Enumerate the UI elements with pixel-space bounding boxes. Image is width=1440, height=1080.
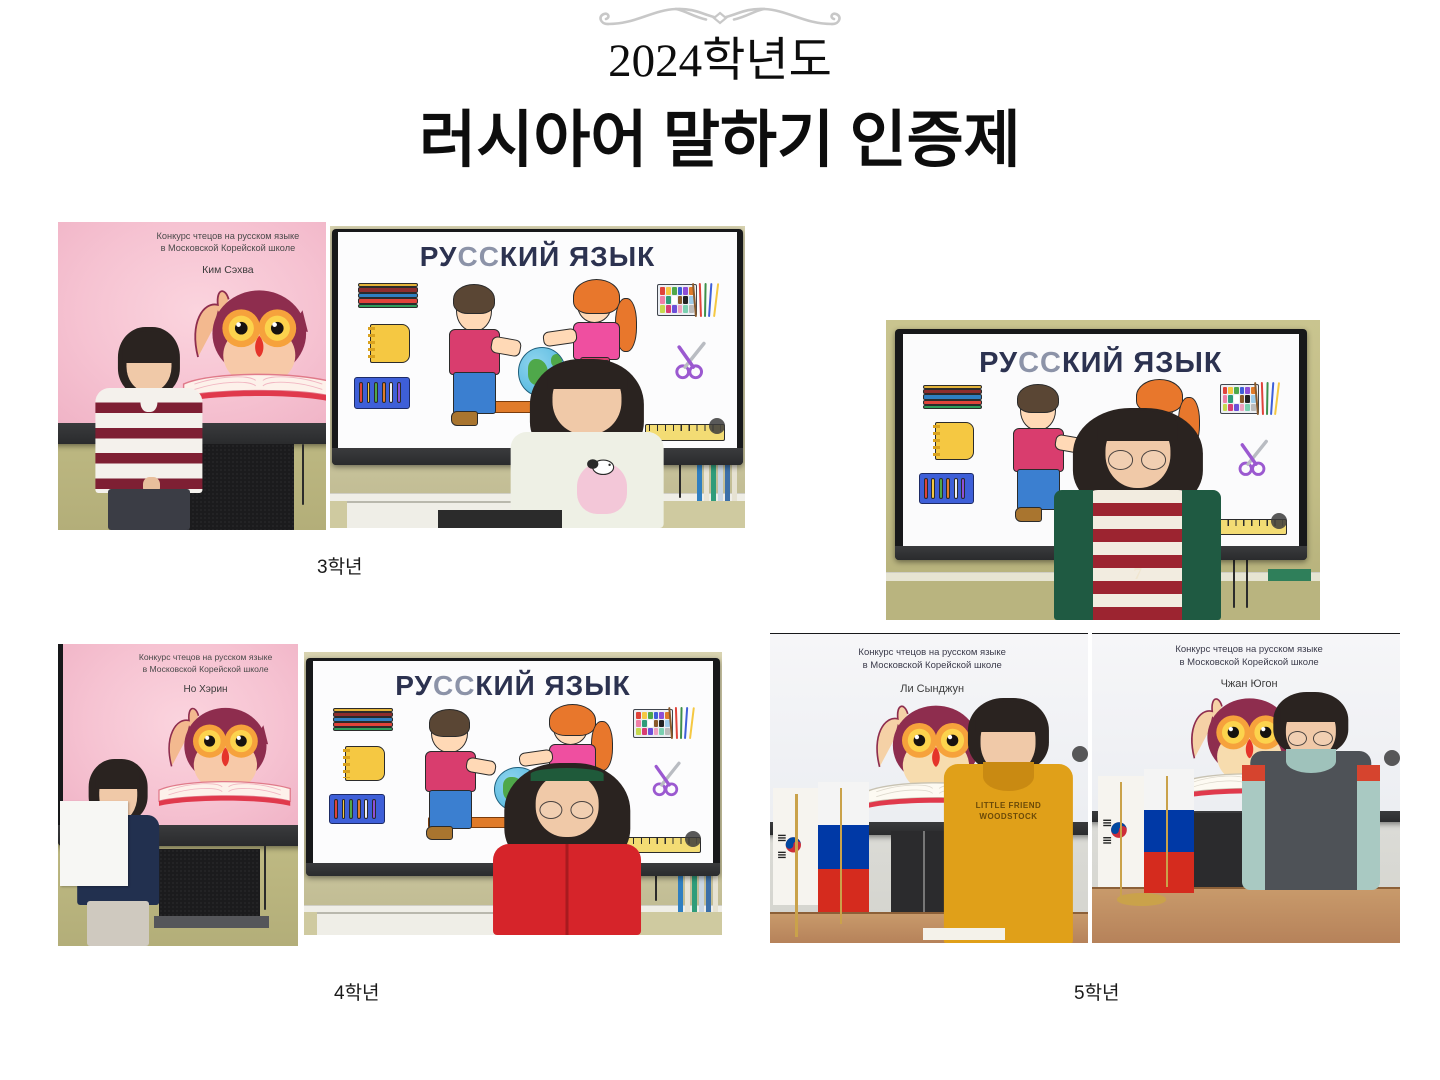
gift-books-icon <box>358 283 418 308</box>
watermark-badge-icon <box>709 418 725 434</box>
presentation-slide: 2024학년도 러시아어 말하기 인증제 Конкурс чтецов на р… <box>0 0 1440 1080</box>
owl-slide-heading-line1: Конкурс чтецов на русском языке <box>139 652 272 662</box>
photo-jang-yugon: Конкурс чтецов на русском языке в Москов… <box>1092 633 1400 943</box>
photo-no-haerin: Конкурс чтецов на русском языке в Москов… <box>58 644 298 946</box>
photo-russian-language-2: РУССКИЙ ЯЗЫК <box>886 320 1320 620</box>
student-name-lee-seungjun: Ли Сынджун <box>770 683 1088 695</box>
owl-slide-heading-line2: в Московской Корейской школе <box>161 243 296 253</box>
eyeglasses-icon <box>1108 452 1168 469</box>
pencil-case-icon <box>919 473 974 504</box>
owl-slide-heading-line1: Конкурс чтецов на русском языке <box>858 647 1006 658</box>
owl-slide-heading-line1: Конкурс чтецов на русском языке <box>1175 644 1323 655</box>
notebook-icon <box>935 422 975 460</box>
student-figure <box>96 327 203 530</box>
student-figure <box>1258 692 1363 890</box>
paint-set-icon <box>1220 380 1283 415</box>
watermark-badge-icon <box>1271 513 1287 529</box>
student-figure <box>505 760 630 935</box>
flag-base <box>1117 893 1166 905</box>
notebook-icon <box>370 324 410 363</box>
grade-label-5: 5학년 <box>1074 978 1120 1005</box>
photo-kim-saehwa: Конкурс чтецов на русском языке в Москов… <box>58 222 326 530</box>
owl-slide-heading-line2: в Московской Корейской школе <box>863 660 1002 671</box>
flag-korea <box>1098 776 1150 900</box>
pencil-case-icon <box>354 377 410 409</box>
page-title-year: 2024학년도 <box>0 36 1440 88</box>
av-cabinet <box>187 444 294 530</box>
watermark-badge-icon <box>1072 746 1088 762</box>
paint-set-icon <box>633 705 697 739</box>
pencil-case-icon <box>329 794 385 824</box>
paint-set-icon <box>657 280 721 317</box>
photo-russian-language-1: РУССКИЙ ЯЗЫК <box>330 226 745 528</box>
student-figure: 7 <box>1073 404 1203 620</box>
flag-russia <box>1144 769 1193 893</box>
flag-russia <box>818 782 869 912</box>
scissors-icon <box>661 340 721 381</box>
snoopy-print-icon <box>579 456 624 480</box>
flag-korea <box>773 788 824 918</box>
owl-slide-heading-line2: в Московской Корейской школе <box>1179 657 1318 668</box>
grade-label-3: 3학년 <box>317 552 363 579</box>
student-figure: LITTLE FRIEND WOODSTOCK <box>951 698 1065 943</box>
scissors-icon <box>637 760 697 798</box>
boy-figure-icon <box>445 278 510 430</box>
eyeglasses-icon <box>1288 732 1334 746</box>
hoodie-text-line2: WOODSTOCK <box>979 812 1037 821</box>
owl-slide-heading-line1: Конкурс чтецов на русском языке <box>157 231 300 241</box>
owl-illustration-icon <box>140 691 298 821</box>
boy-figure-icon <box>421 703 486 843</box>
gift-books-icon <box>923 385 982 409</box>
green-headband <box>531 768 604 780</box>
page-title-main: 러시아어 말하기 인증제 <box>0 106 1440 177</box>
photo-lee-seungjun: Конкурс чтецов на русском языке в Москов… <box>770 633 1088 943</box>
watermark-badge-icon <box>1384 750 1400 766</box>
grade-label-4: 4학년 <box>334 978 380 1005</box>
owl-slide-heading-line2: в Московской Корейской школе <box>143 664 269 674</box>
photo-russian-language-3: РУССКИЙ ЯЗЫК <box>304 652 722 935</box>
slide-title-russian-language: РУССКИЙ ЯЗЫК <box>338 241 737 273</box>
hoodie-text-line1: LITTLE FRIEND <box>976 801 1042 810</box>
eyeglasses-icon <box>540 803 595 817</box>
scissors-icon <box>1224 438 1283 478</box>
student-figure <box>521 356 654 528</box>
notebook-icon <box>345 746 385 782</box>
gift-books-icon <box>333 708 393 731</box>
watermark-badge-icon <box>685 831 701 847</box>
held-paper <box>60 801 127 886</box>
